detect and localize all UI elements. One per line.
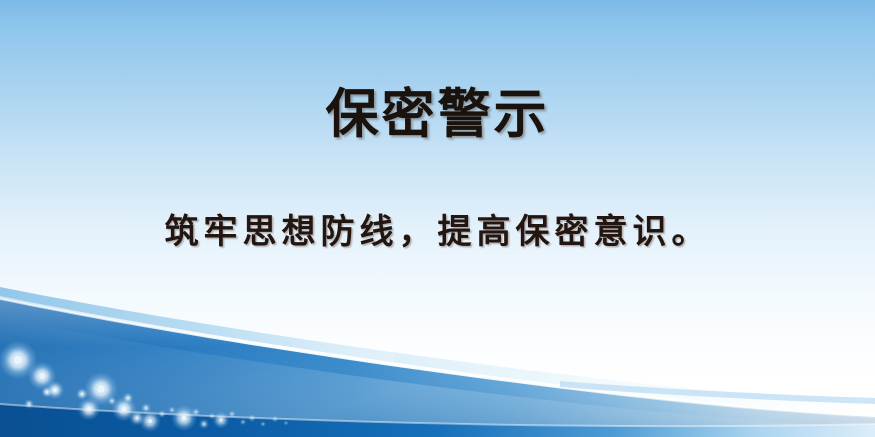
poster-slogan: 筑牢思想防线，提高保密意识。 xyxy=(0,211,875,254)
text-layer: 保密警示 筑牢思想防线，提高保密意识。 xyxy=(0,0,875,437)
page-title: 保密警示 xyxy=(0,86,875,143)
secrecy-warning-poster: 保密警示 筑牢思想防线，提高保密意识。 xyxy=(0,0,875,437)
